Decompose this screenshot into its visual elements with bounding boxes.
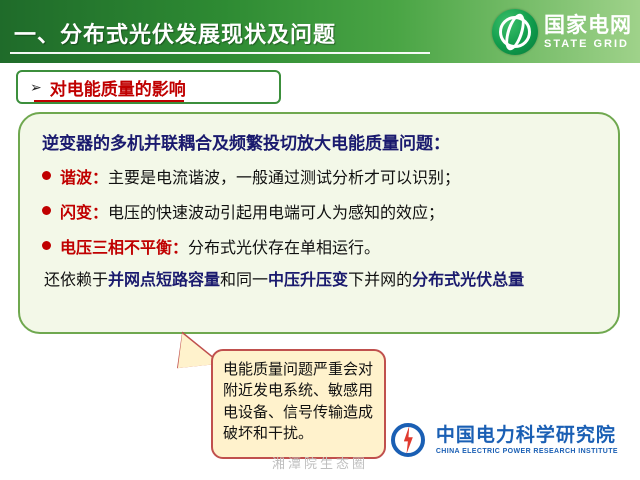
state-grid-globe-icon — [492, 9, 538, 55]
cepri-logo: 中国电力科学研究院 CHINA ELECTRIC POWER RESEARCH … — [389, 420, 618, 460]
cepri-logo-cn: 中国电力科学研究院 — [436, 426, 618, 445]
cepri-logo-text: 中国电力科学研究院 CHINA ELECTRIC POWER RESEARCH … — [436, 426, 618, 455]
bullet-key: 闪变： — [60, 199, 108, 223]
cepri-logo-en: CHINA ELECTRIC POWER RESEARCH INSTITUTE — [436, 448, 618, 455]
page-title: 一、分布式光伏发展现状及问题 — [14, 17, 336, 49]
state-grid-logo-cn: 国家电网 — [544, 15, 632, 36]
bullet-key: 电压三相不平衡： — [60, 234, 188, 258]
bullet-body: 主要是电流谐波，一般通过测试分析才可以识别； — [108, 164, 460, 188]
list-item: 谐波： 主要是电流谐波，一般通过测试分析才可以识别； — [42, 164, 600, 188]
slide-header: 一、分布式光伏发展现状及问题 国家电网 STATE GRID — [0, 0, 640, 63]
state-grid-logo: 国家电网 STATE GRID — [492, 8, 632, 56]
content-box: 逆变器的多机并联耦合及频繁投切放大电能质量问题： 谐波： 主要是电流谐波，一般通… — [18, 112, 620, 334]
subtitle-text: 对电能质量的影响 — [50, 75, 186, 100]
cepri-bolt-icon — [389, 420, 429, 460]
tail-highlight-2: 中压升压变 — [268, 272, 348, 289]
subtitle-underline — [34, 100, 184, 102]
arrow-bullet-icon: ➢ — [30, 80, 42, 94]
subtitle-box: ➢ 对电能质量的影响 — [16, 70, 281, 104]
list-item: 闪变： 电压的快速波动引起用电端可人为感知的效应； — [42, 199, 600, 223]
tail-part-2: 和同一 — [220, 272, 268, 289]
tail-part-3: 下并网的 — [348, 272, 412, 289]
tail-highlight-3: 分布式光伏总量 — [412, 272, 524, 289]
slide-root: 一、分布式光伏发展现状及问题 国家电网 STATE GRID ➢ 对电能质量的影… — [0, 0, 640, 480]
bullet-body: 分布式光伏存在单相运行。 — [188, 234, 380, 258]
callout-bubble: 电能质量问题严重会对附近发电系统、敏感用电设备、信号传输造成破坏和干扰。 — [211, 349, 386, 459]
bullet-dot-icon — [42, 241, 51, 250]
callout-text: 电能质量问题严重会对附近发电系统、敏感用电设备、信号传输造成破坏和干扰。 — [223, 359, 374, 444]
bullet-key: 谐波： — [60, 164, 108, 188]
bullet-dot-icon — [42, 206, 51, 215]
tail-part-1: 还依赖于 — [44, 272, 108, 289]
state-grid-logo-text: 国家电网 STATE GRID — [544, 15, 632, 50]
list-item: 电压三相不平衡： 分布式光伏存在单相运行。 — [42, 234, 600, 258]
title-underline — [10, 52, 430, 54]
content-tail: 还依赖于并网点短路容量和同一中压升压变下并网的分布式光伏总量 — [44, 269, 600, 293]
bullet-body: 电压的快速波动引起用电端可人为感知的效应； — [108, 199, 444, 223]
content-lead: 逆变器的多机并联耦合及频繁投切放大电能质量问题： — [42, 129, 600, 154]
bullet-dot-icon — [42, 171, 51, 180]
tail-highlight-1: 并网点短路容量 — [108, 272, 220, 289]
state-grid-logo-en: STATE GRID — [544, 39, 632, 50]
